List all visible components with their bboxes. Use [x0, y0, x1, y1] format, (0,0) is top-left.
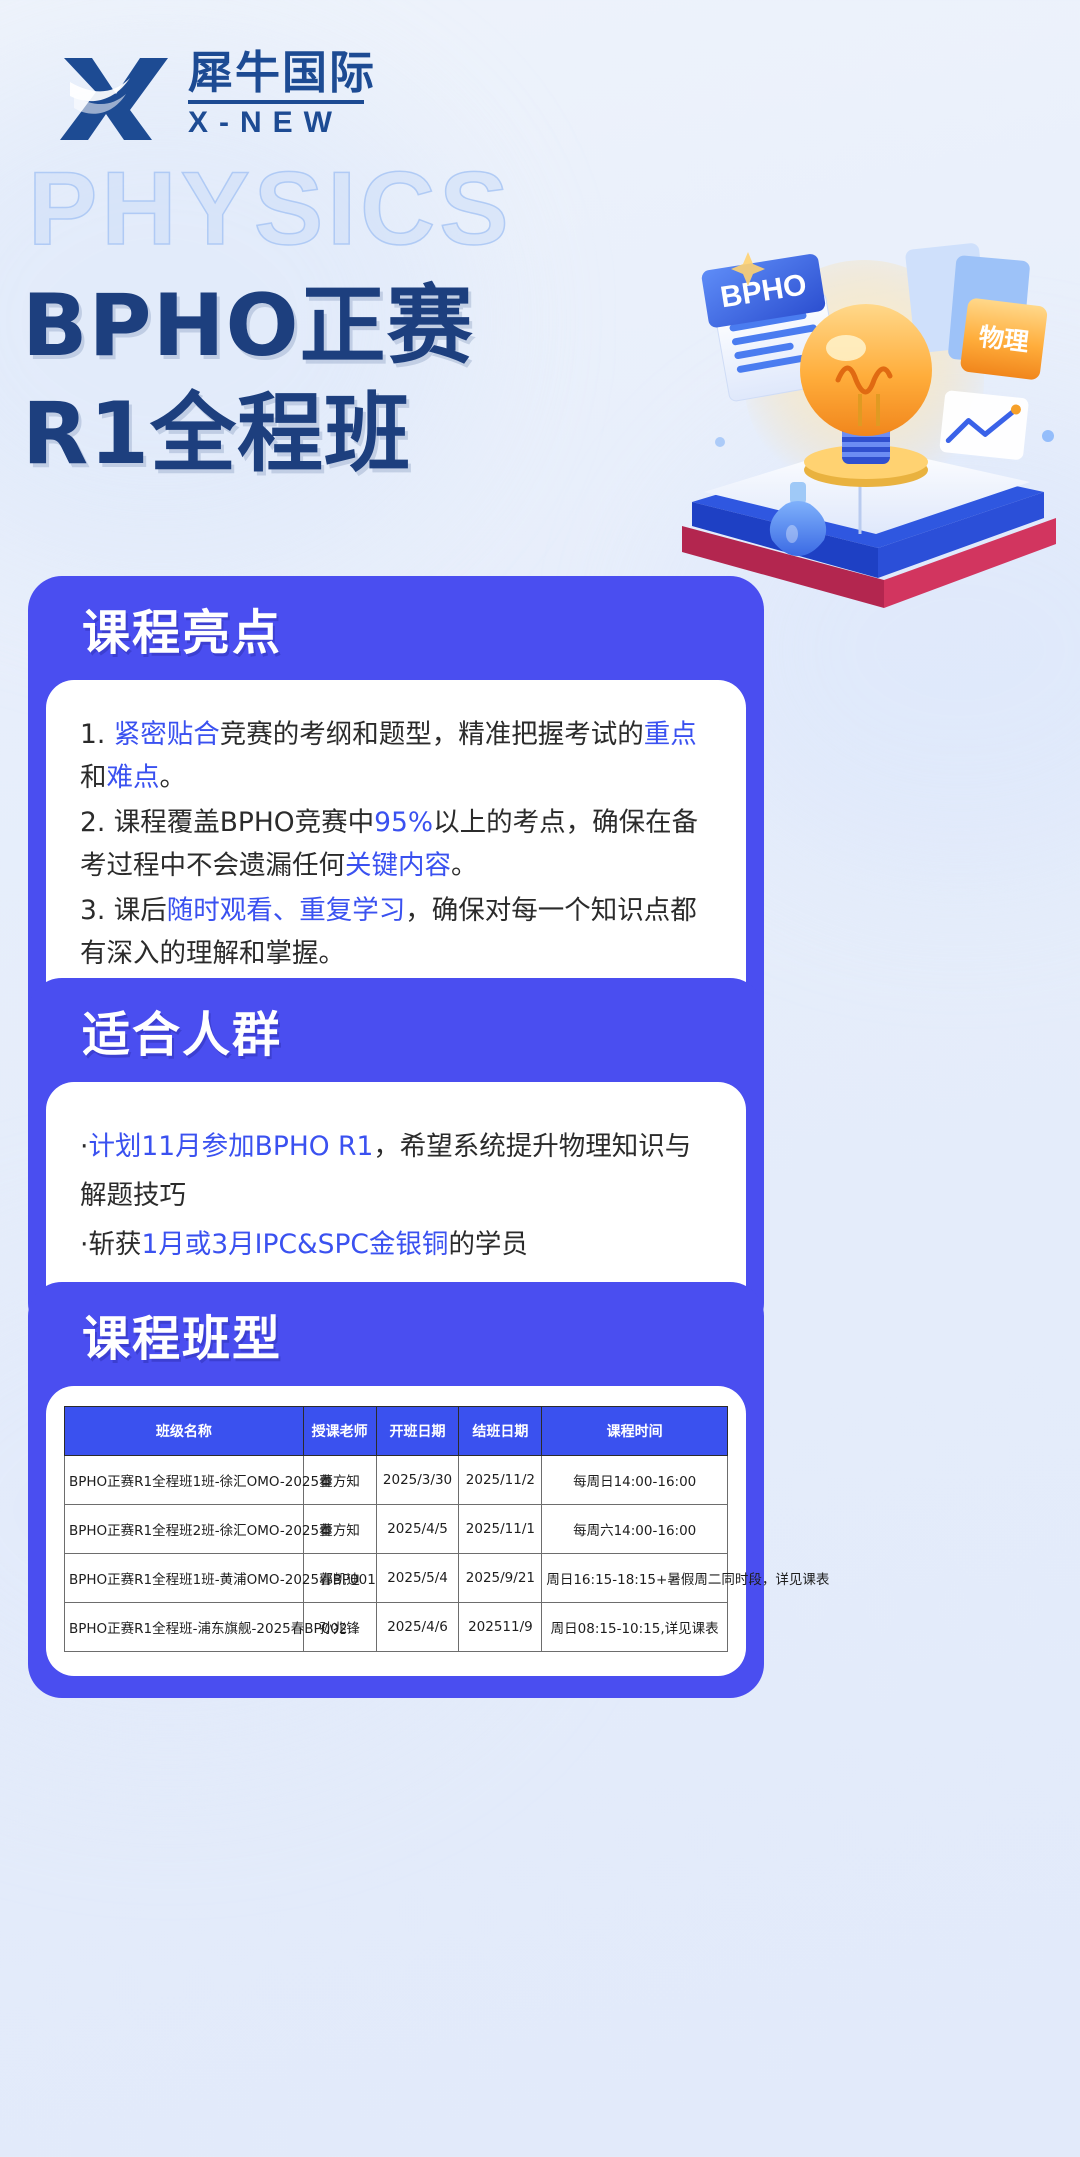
- table-column-header: 班级名称: [65, 1407, 304, 1456]
- audience-item: ·斩获1月或3月IPC&SPC金银铜的学员: [80, 1220, 712, 1269]
- table-column-header: 开班日期: [376, 1407, 459, 1456]
- table-cell: 2025/3/30: [376, 1456, 459, 1505]
- table-cell: BPHO正赛R1全程班-浦东旗舰-2025春BP002: [65, 1603, 304, 1652]
- table-row: BPHO正赛R1全程班1班-黄浦OMO-2025春BP001郭凯迪2025/5/…: [65, 1554, 728, 1603]
- table-row: BPHO正赛R1全程班2班-徐汇OMO-2025春董方知2025/4/52025…: [65, 1505, 728, 1554]
- highlighted-text: 难点: [107, 762, 160, 793]
- section-header-audience: 适合人群: [28, 978, 764, 1082]
- section-header-highlights: 课程亮点: [28, 576, 764, 680]
- brand-name-en: X-NEW: [188, 108, 376, 138]
- body-text: 课程覆盖BPHO竞赛中: [114, 807, 374, 838]
- body-text: 斩获: [88, 1229, 141, 1260]
- table-cell: BPHO正赛R1全程班1班-徐汇OMO-2025春: [65, 1456, 304, 1505]
- table-cell: 每周六14:00-16:00: [542, 1505, 728, 1554]
- page-title-line2: R1全程班: [22, 380, 474, 488]
- table-column-header: 结班日期: [459, 1407, 542, 1456]
- audience-list: ·计划11月参加BPHO R1，希望系统提升物理知识与解题技巧·斩获1月或3月I…: [80, 1122, 712, 1269]
- highlighted-text: 关键内容: [345, 850, 451, 881]
- body-text: 。: [451, 850, 478, 881]
- table-column-header: 课程时间: [542, 1407, 728, 1456]
- physics-watermark: PHYSICS: [28, 150, 513, 269]
- highlighted-text: 重点: [644, 719, 697, 750]
- highlighted-text: 随时观看、重复学习: [167, 895, 406, 926]
- item-marker: 3.: [80, 895, 114, 926]
- table-cell: 202511/9: [459, 1603, 542, 1652]
- brand-name-cn: 犀牛国际: [188, 50, 376, 95]
- illustration-card-label: 物理: [977, 322, 1030, 357]
- table-cell: 2025/9/21: [459, 1554, 542, 1603]
- table-row: BPHO正赛R1全程班1班-徐汇OMO-2025春董方知2025/3/30202…: [65, 1456, 728, 1505]
- highlighted-text: 1月或3月IPC&SPC金银铜: [141, 1229, 448, 1260]
- table-head: 班级名称授课老师开班日期结班日期课程时间: [65, 1407, 728, 1456]
- body-text: 和: [80, 762, 107, 793]
- item-marker: 2.: [80, 807, 114, 838]
- table-cell: 2025/11/2: [459, 1456, 542, 1505]
- audience-item: ·计划11月参加BPHO R1，希望系统提升物理知识与解题技巧: [80, 1122, 712, 1220]
- body-text: 课后: [114, 895, 167, 926]
- section-body-classes: 班级名称授课老师开班日期结班日期课程时间 BPHO正赛R1全程班1班-徐汇OMO…: [46, 1386, 746, 1676]
- table-column-header: 授课老师: [303, 1407, 376, 1456]
- section-title-classes: 课程班型: [82, 1299, 282, 1369]
- body-text: 的学员: [448, 1229, 528, 1260]
- table-cell: 每周日14:00-16:00: [542, 1456, 728, 1505]
- highlight-item: 3. 课后随时观看、重复学习，确保对每一个知识点都有深入的理解和掌握。: [80, 890, 712, 976]
- highlighted-text: 紧密贴合: [114, 719, 220, 750]
- x-new-bird-logo-icon: [56, 44, 174, 140]
- section-title-audience: 适合人群: [82, 995, 282, 1065]
- table-body: BPHO正赛R1全程班1班-徐汇OMO-2025春董方知2025/3/30202…: [65, 1456, 728, 1652]
- table-cell: 2025/4/6: [376, 1603, 459, 1652]
- page-title-line1: BPHO正赛: [22, 276, 474, 376]
- table-cell: 2025/11/1: [459, 1505, 542, 1554]
- section-body-audience: ·计划11月参加BPHO R1，希望系统提升物理知识与解题技巧·斩获1月或3月I…: [46, 1082, 746, 1315]
- body-text: 竞赛的考纲和题型，精准把握考试的: [220, 719, 644, 750]
- table-cell: 2025/4/5: [376, 1505, 459, 1554]
- body-text: 。: [160, 762, 187, 793]
- physics-lightbulb-book-illustration: BPHO 物理: [652, 230, 1072, 630]
- section-header-classes: 课程班型: [28, 1282, 764, 1386]
- item-marker: 1.: [80, 719, 114, 750]
- table-cell: 周日08:15-10:15,详见课表: [542, 1603, 728, 1652]
- highlighted-text: 95%: [374, 807, 433, 838]
- section-class-types: 课程班型 班级名称授课老师开班日期结班日期课程时间 BPHO正赛R1全程班1班-…: [28, 1282, 764, 1698]
- table-row: BPHO正赛R1全程班-浦东旗舰-2025春BP002孙兆锋2025/4/620…: [65, 1603, 728, 1652]
- brand-divider: [188, 100, 364, 104]
- table-cell: BPHO正赛R1全程班2班-徐汇OMO-2025春: [65, 1505, 304, 1554]
- highlight-item: 1. 紧密贴合竞赛的考纲和题型，精准把握考试的重点和难点。: [80, 714, 712, 800]
- highlight-item: 2. 课程覆盖BPHO竞赛中95%以上的考点，确保在备考过程中不会遗漏任何关键内…: [80, 802, 712, 888]
- page-title: BPHO正赛 R1全程班: [22, 272, 474, 489]
- table-header-row: 班级名称授课老师开班日期结班日期课程时间: [65, 1407, 728, 1456]
- brand-logo: 犀牛国际 X-NEW: [56, 44, 376, 140]
- highlighted-text: 计划11月参加BPHO R1: [88, 1131, 373, 1162]
- table-cell: BPHO正赛R1全程班1班-黄浦OMO-2025春BP001: [65, 1554, 304, 1603]
- section-title-highlights: 课程亮点: [82, 593, 282, 663]
- table-cell: 周日16:15-18:15+暑假周二同时段，详见课表: [542, 1554, 728, 1603]
- class-schedule-table: 班级名称授课老师开班日期结班日期课程时间 BPHO正赛R1全程班1班-徐汇OMO…: [64, 1406, 728, 1652]
- table-cell: 2025/5/4: [376, 1554, 459, 1603]
